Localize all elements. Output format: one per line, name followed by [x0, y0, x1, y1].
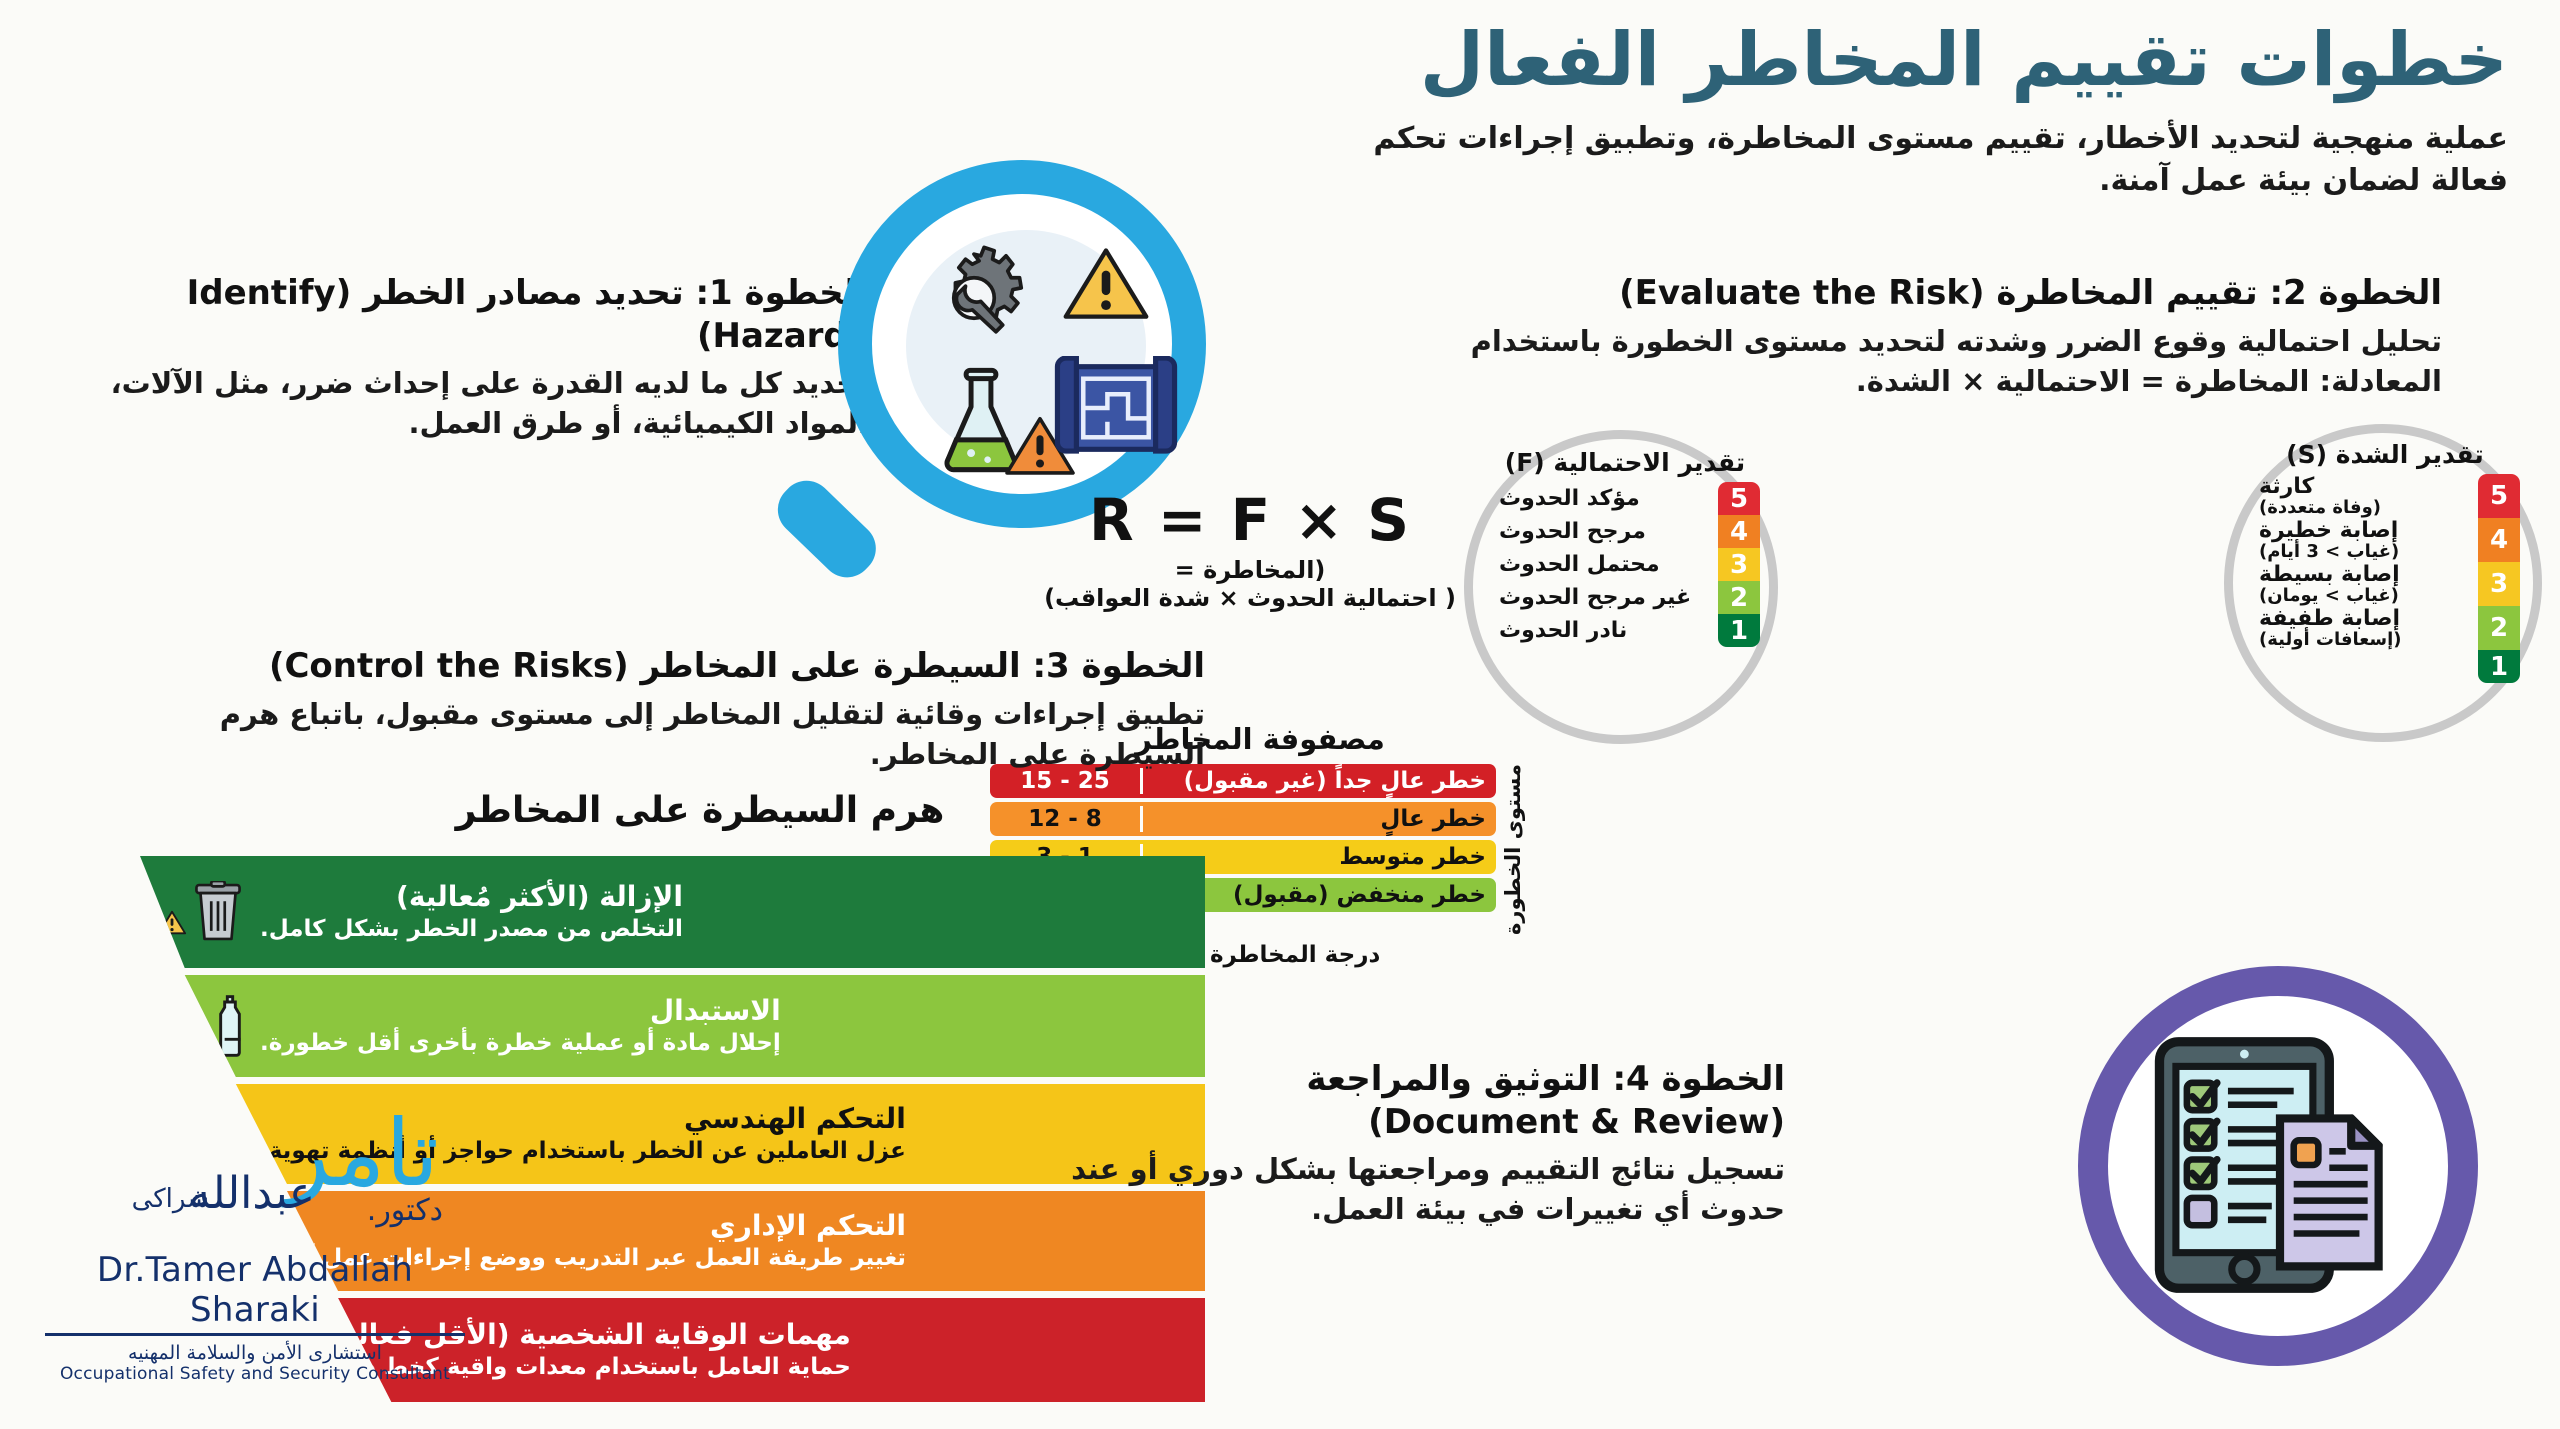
- document-icon: [2280, 1118, 2379, 1266]
- pyramid-band-desc: التخلص من مصدر الخطر بشكل كامل.: [260, 916, 683, 943]
- step-3-text-block: الخطوة 3: السيطرة على المخاطر (Control t…: [195, 645, 1205, 774]
- severity-row-label: إصابة طفيفة (إسعافات أولية): [2250, 607, 2478, 649]
- logo-family-name-arabic: شراكى: [132, 1186, 209, 1212]
- tablet-checklist-icon: [2154, 1036, 2406, 1294]
- risk-matrix-y-axis-label: مستوى الخطورة: [1501, 764, 1525, 935]
- step-2-text-block: الخطوة 2: تقييم المخاطرة (Evaluate the R…: [1402, 272, 2442, 401]
- step-3-heading: الخطوة 3: السيطرة على المخاطر (Control t…: [195, 645, 1205, 688]
- frequency-row-label: محتمل الحدوث: [1490, 553, 1718, 576]
- severity-label-main: إصابة بسيطة: [2259, 562, 2400, 587]
- severity-scale: تقدير الشدة (S) 5 كارثة (وفاة متعددة) 4 …: [2250, 440, 2520, 683]
- severity-row: 2 إصابة طفيفة (إسعافات أولية): [2250, 606, 2520, 650]
- risk-formula: R = F × S (المخاطرة = ( احتمالية الحدوث …: [1040, 486, 1460, 612]
- frequency-row-number: 1: [1718, 614, 1760, 647]
- severity-row: 3 إصابة بسيطة (غياب > يومان): [2250, 562, 2520, 606]
- frequency-row: 5 مؤكد الحدوث: [1490, 482, 1760, 515]
- severity-label-sub: (وفاة متعددة): [2259, 498, 2478, 517]
- frequency-row-number: 4: [1718, 515, 1760, 548]
- magnifier-handle: [767, 470, 886, 588]
- frequency-row-label: غير مرجح الحدوث: [1490, 586, 1718, 609]
- severity-scale-title: تقدير الشدة (S): [2250, 440, 2520, 469]
- frequency-row-number: 2: [1718, 581, 1760, 614]
- severity-row: 4 إصابة خطيرة (غياب > 3 أيام): [2250, 518, 2520, 562]
- frequency-row-number: 3: [1718, 548, 1760, 581]
- severity-row-number: 5: [2478, 474, 2520, 518]
- severity-row: 1: [2250, 650, 2520, 683]
- bottle-swap-icon: [158, 994, 254, 1058]
- severity-label-main: إصابة طفيفة: [2259, 606, 2400, 631]
- severity-row-number: 3: [2478, 562, 2520, 606]
- logo-role-english: Occupational Safety and Security Consult…: [45, 1364, 465, 1384]
- frequency-scale-title: تقدير الاحتمالية (F): [1490, 448, 1760, 477]
- header: خطوات تقييم المخاطر الفعال عملية منهجية …: [1348, 22, 2508, 203]
- author-logo: تامر عبدالله دكتور. شراكى Dr.Tamer Abdal…: [45, 1100, 465, 1384]
- pyramid-band-desc: إحلال مادة أو عملية خطرة بأخرى أقل خطورة…: [260, 1030, 781, 1057]
- trash-bin-icon: [191, 881, 245, 943]
- pyramid-band-text: الاستبدال إحلال مادة أو عملية خطرة بأخرى…: [260, 995, 799, 1056]
- gear-wrench-icon: [920, 244, 1028, 352]
- pyramid-band-text: الإزالة (الأكثر مُعالية) التخلص من مصدر …: [260, 881, 701, 942]
- pyramid-band-title: الإزالة (الأكثر مُعالية): [260, 881, 683, 912]
- severity-label-sub: (غياب > يومان): [2259, 586, 2478, 605]
- pyramid-band-title: الاستبدال: [260, 995, 781, 1026]
- warning-triangle-icon: [157, 909, 187, 937]
- formula-equation: R = F × S: [1040, 486, 1460, 554]
- step-1-text-block: الخطوة 1: تحديد مصادر الخطر (Identify Ha…: [78, 272, 868, 443]
- warning-triangle-icon: [1060, 244, 1152, 326]
- severity-row-label: إصابة خطيرة (غياب > 3 أيام): [2250, 519, 2478, 561]
- step-1-heading: الخطوة 1: تحديد مصادر الخطر (Identify Ha…: [78, 272, 868, 357]
- frequency-row: 1 نادر الحدوث: [1490, 614, 1760, 647]
- step-3-body: تطبيق إجراءات وقائية لتقليل المخاطر إلى …: [195, 694, 1205, 774]
- step-2-body: تحليل احتمالية وقوع الضرر وشدته لتحديد م…: [1402, 321, 2442, 401]
- step-1-body: تحديد كل ما لديه القدرة على إحداث ضرر، م…: [78, 363, 868, 443]
- step-4-text-block: الخطوة 4: التوثيق والمراجعة (Document & …: [1045, 1058, 1785, 1229]
- step-4-heading-en: (Document & Review): [1045, 1101, 1785, 1144]
- pyramid-band-elimination: الإزالة (الأكثر مُعالية) التخلص من مصدر …: [140, 856, 1205, 968]
- frequency-row: 4 مرجح الحدوث: [1490, 515, 1760, 548]
- frequency-row-label: نادر الحدوث: [1490, 619, 1718, 642]
- frequency-row: 3 محتمل الحدوث: [1490, 548, 1760, 581]
- frequency-row-label: مؤكد الحدوث: [1490, 487, 1718, 510]
- severity-row-label: كارثة (وفاة متعددة): [2250, 475, 2478, 517]
- blueprint-icon: [1054, 356, 1178, 460]
- pyramid-band-icons: [140, 994, 260, 1058]
- severity-label-main: إصابة خطيرة: [2259, 518, 2398, 543]
- pyramid-title: هرم السيطرة على المخاطر: [195, 790, 1205, 831]
- logo-role-arabic: استشارى الأمن والسلامة المهنيه: [45, 1342, 465, 1364]
- logo-name-english: Dr.Tamer Abdallah Sharaki: [45, 1250, 465, 1336]
- page-subtitle: عملية منهجية لتحديد الأخطار، تقييم مستوى…: [1348, 118, 2508, 203]
- risk-matrix-y-axis: مستوى الخطورة: [1496, 764, 1530, 935]
- severity-label-main: كارثة: [2259, 474, 2314, 499]
- step-4-heading-ar: الخطوة 4: التوثيق والمراجعة: [1045, 1058, 1785, 1101]
- severity-row-number: 4: [2478, 518, 2520, 562]
- formula-explanation-line-1: (المخاطرة =: [1040, 556, 1460, 584]
- pyramid-band-icons: [140, 881, 260, 943]
- severity-row-number: 1: [2478, 650, 2520, 683]
- frequency-scale: تقدير الاحتمالية (F) 5 مؤكد الحدوث 4 مرج…: [1490, 448, 1760, 647]
- frequency-row: 2 غير مرجح الحدوث: [1490, 581, 1760, 614]
- severity-label-sub: (إسعافات أولية): [2259, 630, 2478, 649]
- logo-doctor-prefix: دكتور.: [367, 1196, 443, 1226]
- frequency-row-label: مرجح الحدوث: [1490, 520, 1718, 543]
- frequency-row-number: 5: [1718, 482, 1760, 515]
- severity-row-number: 2: [2478, 606, 2520, 650]
- infographic-canvas: خطوات تقييم المخاطر الفعال عملية منهجية …: [0, 0, 2560, 1429]
- severity-label-sub: (غياب > 3 أيام): [2259, 542, 2478, 561]
- step-2-heading: الخطوة 2: تقييم المخاطرة (Evaluate the R…: [1402, 272, 2442, 315]
- severity-row-label: إصابة بسيطة (غياب > يومان): [2250, 563, 2478, 605]
- page-title: خطوات تقييم المخاطر الفعال: [1348, 22, 2508, 100]
- severity-row: 5 كارثة (وفاة متعددة): [2250, 474, 2520, 518]
- logo-arabic-calligraphy: تامر عبدالله دكتور. شراكى: [45, 1100, 465, 1250]
- formula-explanation-line-2: ( احتمالية الحدوث × شدة العواقب): [1040, 584, 1460, 612]
- step-4-icon-group: [2068, 958, 2508, 1388]
- step-4-body: تسجيل نتائج التقييم ومراجعتها بشكل دوري …: [1045, 1149, 1785, 1229]
